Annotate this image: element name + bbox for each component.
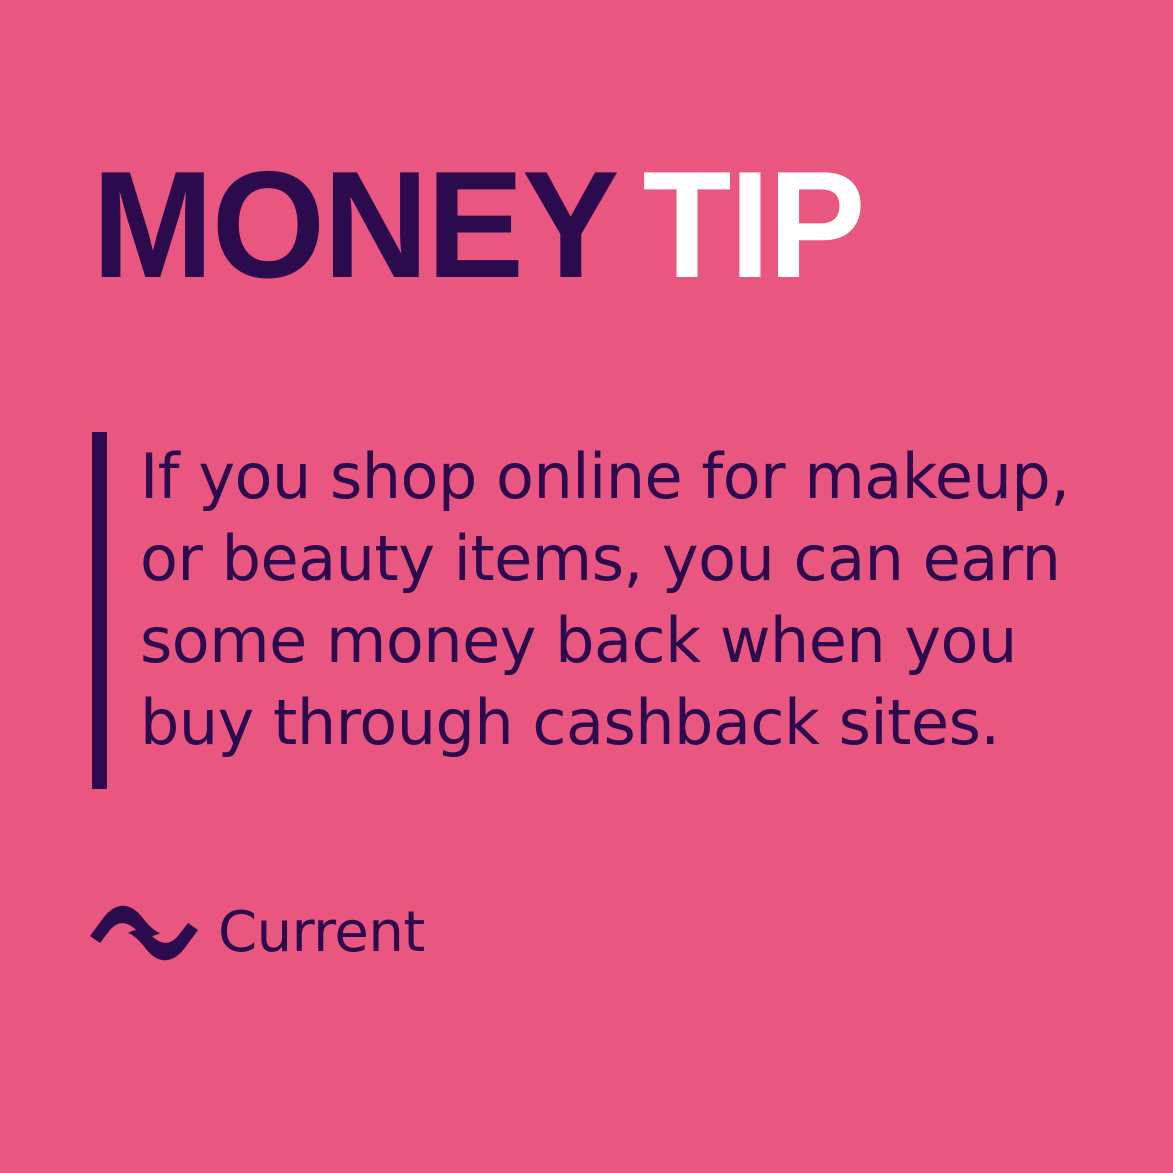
brand-wordmark: Current xyxy=(218,905,425,961)
tip-body-line: buy through cashback sites. xyxy=(140,682,1069,764)
tip-body-line: or beauty items, you can earn xyxy=(140,518,1069,600)
headline-primary-word: MONEY xyxy=(92,150,617,300)
tip-body-block: If you shop online for makeup, or beauty… xyxy=(92,432,1092,789)
brand-logo: Current xyxy=(88,900,425,966)
current-wave-mark-icon xyxy=(88,900,200,966)
tip-body-line: some money back when you xyxy=(140,600,1069,682)
tip-body-line: If you shop online for makeup, xyxy=(140,436,1069,518)
page-title: MONEY TIP xyxy=(92,150,1052,300)
tip-body-text: If you shop online for makeup, or beauty… xyxy=(140,432,1069,789)
headline-accent-word: TIP xyxy=(642,150,863,300)
money-tip-card: MONEY TIP If you shop online for makeup,… xyxy=(0,0,1173,1173)
quote-accent-bar xyxy=(92,432,107,789)
